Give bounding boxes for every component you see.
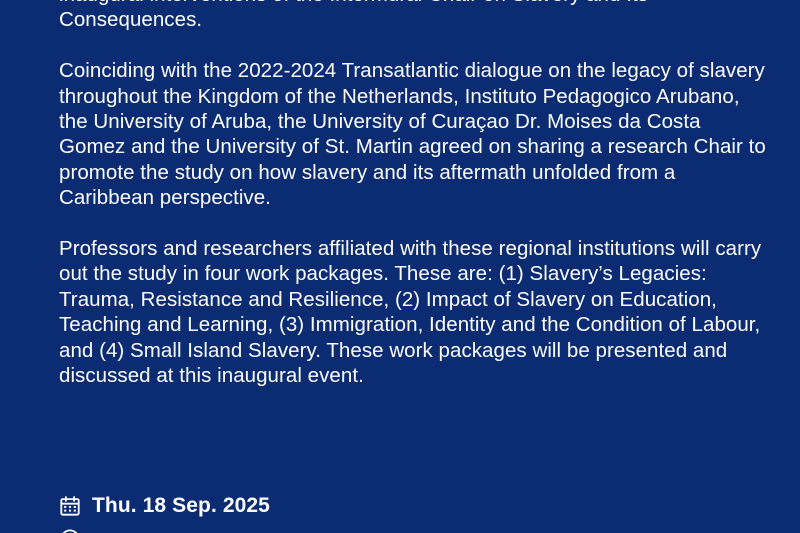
event-date-label: Thu. 18 Sep. 2025 xyxy=(92,494,270,518)
event-details: Thu. 18 Sep. 2025 xyxy=(59,489,771,533)
body-paragraph-2: Coinciding with the 2022-2024 Transatlan… xyxy=(59,58,771,210)
calendar-icon xyxy=(59,495,81,517)
arrow-right-icon xyxy=(101,530,119,533)
body-paragraph-3: Professors and researchers affiliated wi… xyxy=(59,236,771,388)
poster-body-text: inaugural interventions of the Intermura… xyxy=(59,0,771,388)
event-date-row: Thu. 18 Sep. 2025 xyxy=(59,489,771,522)
event-time-row xyxy=(59,522,771,533)
body-paragraph-1: inaugural interventions of the Intermura… xyxy=(59,0,771,33)
event-poster: inaugural interventions of the Intermura… xyxy=(0,0,800,533)
clock-icon xyxy=(59,528,81,533)
event-time-group xyxy=(92,530,128,533)
